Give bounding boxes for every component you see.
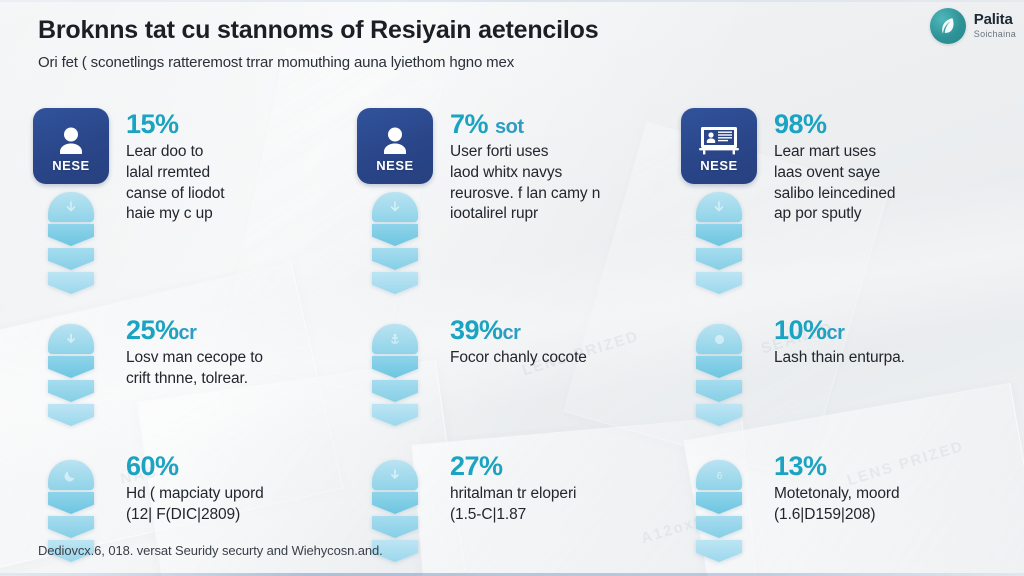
stat-percent: 25%cr — [126, 316, 263, 344]
stat-block: 10%cr Lash thain enturpa. — [678, 314, 1002, 428]
desc-line: reurosve. f lan camy n — [450, 184, 600, 205]
stat-text: 15% Lear doo to lalal rremted canse of l… — [126, 108, 224, 225]
anchor-icon — [372, 324, 418, 428]
stat-percent: 15% — [126, 110, 224, 138]
chevron-segment — [48, 248, 94, 270]
chevron-cap — [696, 192, 742, 222]
stat-block: NESE 7% sot User forti uses — [354, 108, 678, 296]
stat-description: Hd ( mapciaty upord (12| F(DIC|2809) — [126, 484, 264, 525]
stat-percent: 7% sot — [450, 110, 600, 138]
page-subtitle: Ori fet ( sconetlings ratteremost trrar … — [38, 54, 994, 71]
desc-line: Lear mart uses — [774, 142, 895, 163]
stat-percent: 39%cr — [450, 316, 587, 344]
chevron-cap — [696, 324, 742, 354]
chevron-segment — [372, 272, 418, 294]
brand-tagline: Soichaina — [974, 30, 1016, 39]
desc-line: salibo leincedined — [774, 184, 895, 205]
chevron-segment — [48, 380, 94, 402]
stat-description: Lear doo to lalal rremted canse of liodo… — [126, 142, 224, 224]
desc-line: (12| F(DIC|2809) — [126, 505, 264, 526]
chevron-segment — [372, 516, 418, 538]
desc-line: User forti uses — [450, 142, 600, 163]
id-card-icon: NESE — [681, 108, 757, 184]
chevron-cap — [372, 460, 418, 490]
chevron-down-icon — [372, 192, 418, 296]
desc-line: Hd ( mapciaty upord — [126, 484, 264, 505]
stat-rail — [30, 314, 112, 428]
desc-line: Motetonaly, moord — [774, 484, 900, 505]
stat-text: 10%cr Lash thain enturpa. — [774, 314, 905, 369]
chevron-segment — [48, 516, 94, 538]
desc-line: laas ovent saye — [774, 163, 895, 184]
stat-text: 25%cr Losv man cecope to crift thnne, to… — [126, 314, 263, 390]
stat-block: NESE 98% Lear mart uses — [678, 108, 1002, 296]
chevron-segment — [696, 272, 742, 294]
desc-line: (1.5-C|1.87 — [450, 505, 576, 526]
stat-rail: NESE — [678, 108, 760, 296]
chevron-segment — [696, 492, 742, 514]
chevron-cap — [48, 192, 94, 222]
brand-text: Palita Soichaina — [974, 12, 1016, 39]
stat-suffix: cr — [179, 322, 197, 344]
chevron-segment — [696, 516, 742, 538]
desc-line: iootalirel rupr — [450, 204, 600, 225]
person-icon: NESE — [33, 108, 109, 184]
desc-line: Lear doo to — [126, 142, 224, 163]
svg-text:6: 6 — [716, 471, 722, 482]
stat-rail — [678, 314, 760, 428]
chevron-segment — [48, 356, 94, 378]
chevron-segment — [372, 224, 418, 246]
chevron-segment — [372, 404, 418, 426]
person-icon: NESE — [357, 108, 433, 184]
stat-suffix: sot — [495, 116, 524, 138]
desc-line: (1.6|D159|208) — [774, 505, 900, 526]
header: Broknns tat cu stannoms of Resiyain aete… — [38, 16, 994, 90]
chevron-cap — [372, 192, 418, 222]
desc-line: Losv man cecope to — [126, 348, 263, 369]
chevron-cap — [372, 324, 418, 354]
chevron-segment — [696, 356, 742, 378]
chevron-segment — [696, 224, 742, 246]
stat-block: 27% hritalman tr eloperi (1.5-C|1.87 — [354, 450, 678, 564]
leaf-swoosh-icon — [930, 8, 966, 44]
stat-suffix: cr — [827, 322, 845, 344]
stat-description: Lear mart uses laas ovent saye salibo le… — [774, 142, 895, 224]
stat-description: User forti uses laod whitx navys reurosv… — [450, 142, 600, 224]
stat-block: 25%cr Losv man cecope to crift thnne, to… — [30, 314, 354, 428]
chevron-down-icon — [48, 192, 94, 296]
chevron-segment — [372, 380, 418, 402]
stat-column: NESE 7% sot User forti uses — [354, 108, 678, 564]
stat-text: 7% sot User forti uses laod whitx navys … — [450, 108, 600, 225]
stat-percent: 98% — [774, 110, 895, 138]
chevron-segment — [48, 492, 94, 514]
stat-rail: NESE — [354, 108, 436, 296]
stat-block: NESE 15% Lear doo to lal — [30, 108, 354, 296]
stat-description: Motetonaly, moord (1.6|D159|208) — [774, 484, 900, 525]
chevron-segment — [48, 224, 94, 246]
desc-line: ap por sputly — [774, 204, 895, 225]
footer-note: Dediovcx.6, 018. versat Seuridy securty … — [38, 543, 383, 558]
stat-text: 60% Hd ( mapciaty upord (12| F(DIC|2809) — [126, 450, 264, 526]
stat-description: Lash thain enturpa. — [774, 348, 905, 369]
download-arrow-icon — [48, 324, 94, 428]
stat-text: 13% Motetonaly, moord (1.6|D159|208) — [774, 450, 900, 526]
stat-rail — [354, 314, 436, 428]
chevron-cap — [48, 460, 94, 490]
desc-line: haie my c up — [126, 204, 224, 225]
tile-label: NESE — [700, 159, 737, 172]
chevron-cap — [48, 324, 94, 354]
desc-line: Lash thain enturpa. — [774, 348, 905, 369]
chevron-segment — [696, 380, 742, 402]
desc-line: lalal rremted — [126, 163, 224, 184]
desc-line: crift thnne, tolrear. — [126, 369, 263, 390]
chevron-segment — [372, 356, 418, 378]
stat-percent: 60% — [126, 452, 264, 480]
tile-label: NESE — [376, 159, 413, 172]
circle-arrow-icon — [696, 324, 742, 428]
chevron-segment — [696, 248, 742, 270]
chevron-down-icon — [696, 192, 742, 296]
chevron-segment — [696, 540, 742, 562]
stat-block: 39%cr Focor chanly cocote — [354, 314, 678, 428]
stat-description: Losv man cecope to crift thnne, tolrear. — [126, 348, 263, 389]
brand-logo: Palita Soichaina — [930, 8, 1016, 44]
page-title: Broknns tat cu stannoms of Resiyain aete… — [38, 16, 994, 45]
chevron-segment — [48, 404, 94, 426]
chevron-cap: 6 — [696, 460, 742, 490]
stat-percent: 27% — [450, 452, 576, 480]
stat-description: Focor chanly cocote — [450, 348, 587, 369]
desc-line: hritalman tr eloperi — [450, 484, 576, 505]
desc-line: Focor chanly cocote — [450, 348, 587, 369]
stat-percent: 10%cr — [774, 316, 905, 344]
stat-rail: NESE — [30, 108, 112, 296]
stat-column: NESE 98% Lear mart uses — [678, 108, 1002, 564]
stat-block: 6 13% Motetonaly, moord (1.6|D159|208) — [678, 450, 1002, 564]
top-divider — [0, 0, 1024, 2]
chevron-segment — [48, 272, 94, 294]
stat-text: 39%cr Focor chanly cocote — [450, 314, 587, 369]
stat-percent: 13% — [774, 452, 900, 480]
stat-rail: 6 — [678, 450, 760, 564]
infographic-poster: LENS PRIZED SEANED A12oxtn NAS7s LENS PR… — [0, 0, 1024, 576]
number-badge-icon: 6 — [696, 460, 742, 564]
desc-line: laod whitx navys — [450, 163, 600, 184]
chevron-segment — [372, 492, 418, 514]
tile-label: NESE — [52, 159, 89, 172]
stat-text: 27% hritalman tr eloperi (1.5-C|1.87 — [450, 450, 576, 526]
chevron-segment — [372, 248, 418, 270]
stat-description: hritalman tr eloperi (1.5-C|1.87 — [450, 484, 576, 525]
brand-name: Palita — [974, 12, 1016, 28]
stat-text: 98% Lear mart uses laas ovent saye salib… — [774, 108, 895, 225]
stat-suffix: cr — [503, 322, 521, 344]
desc-line: canse of liodot — [126, 184, 224, 205]
stat-column: NESE 15% Lear doo to lal — [30, 108, 354, 564]
stat-columns: NESE 15% Lear doo to lal — [30, 108, 1002, 564]
chevron-segment — [696, 404, 742, 426]
